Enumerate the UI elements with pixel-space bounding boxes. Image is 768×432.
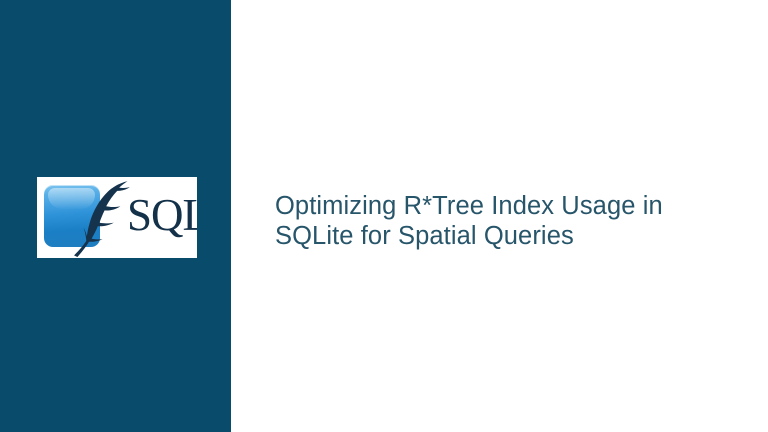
sqlite-wordmark: SQLite: [127, 193, 197, 238]
page-title: Optimizing R*Tree Index Usage in SQLite …: [275, 191, 745, 251]
sqlite-logo: SQLite: [37, 177, 197, 258]
quill-feather-icon: [70, 179, 132, 257]
sqlite-logo-artwork: SQLite: [37, 177, 197, 258]
title-slide: SQLite Optimizing R*Tree Index Usage in …: [0, 0, 768, 432]
sqlite-wordmark-primary: SQL: [127, 190, 197, 240]
